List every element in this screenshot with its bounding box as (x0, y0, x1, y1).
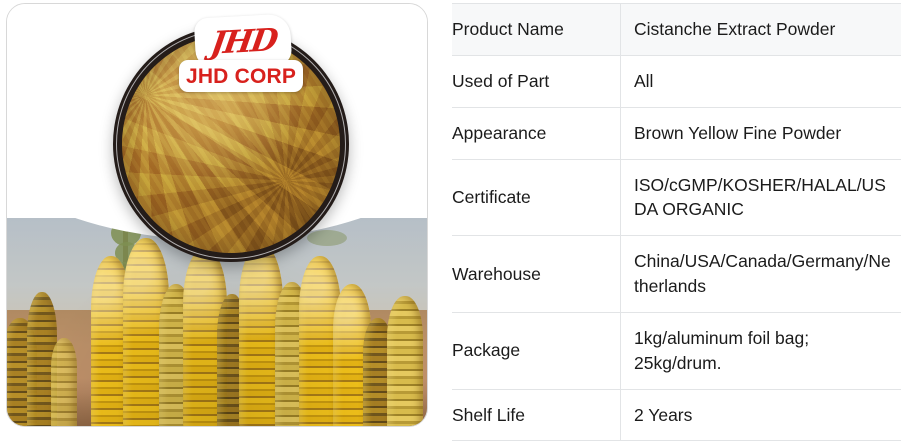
logo-banner-text: JHD CORP (186, 66, 296, 87)
spec-value: Cistanche Extract Powder (621, 4, 902, 56)
table-row: Package 1kg/aluminum foil bag; 25kg/drum… (452, 312, 901, 389)
spec-value: All (621, 55, 902, 107)
spec-value: ISO/cGMP/KOSHER/HALAL/USDA ORGANIC (621, 159, 902, 236)
table-row: Warehouse China/USA/Canada/Germany/Nethe… (452, 236, 901, 313)
table-row: Appearance Brown Yellow Fine Powder (452, 107, 901, 159)
product-spec-page: JHD JHD CORP Product Name Cistanche Extr… (0, 0, 924, 435)
spec-value: China/USA/Canada/Germany/Netherlands (621, 236, 902, 313)
spec-key: Package (452, 312, 621, 389)
spec-key: Certificate (452, 159, 621, 236)
product-image-panel[interactable]: JHD JHD CORP (6, 3, 428, 427)
spec-key: Appearance (452, 107, 621, 159)
product-spec-table: Product Name Cistanche Extract Powder Us… (452, 3, 901, 441)
spec-value: 2 Years (621, 389, 902, 441)
jhd-corp-logo: JHD JHD CORP (179, 16, 303, 100)
table-row: Product Name Cistanche Extract Powder (452, 4, 901, 56)
table-row: Shelf Life 2 Years (452, 389, 901, 441)
logo-script-text: JHD (208, 25, 278, 60)
spec-key: Product Name (452, 4, 621, 56)
table-row: Certificate ISO/cGMP/KOSHER/HALAL/USDA O… (452, 159, 901, 236)
spec-key: Used of Part (452, 55, 621, 107)
logo-banner: JHD CORP (179, 60, 303, 92)
spec-key: Warehouse (452, 236, 621, 313)
table-row: Used of Part All (452, 55, 901, 107)
spec-value: 1kg/aluminum foil bag; 25kg/drum. (621, 312, 902, 389)
spec-value: Brown Yellow Fine Powder (621, 107, 902, 159)
spec-key: Shelf Life (452, 389, 621, 441)
